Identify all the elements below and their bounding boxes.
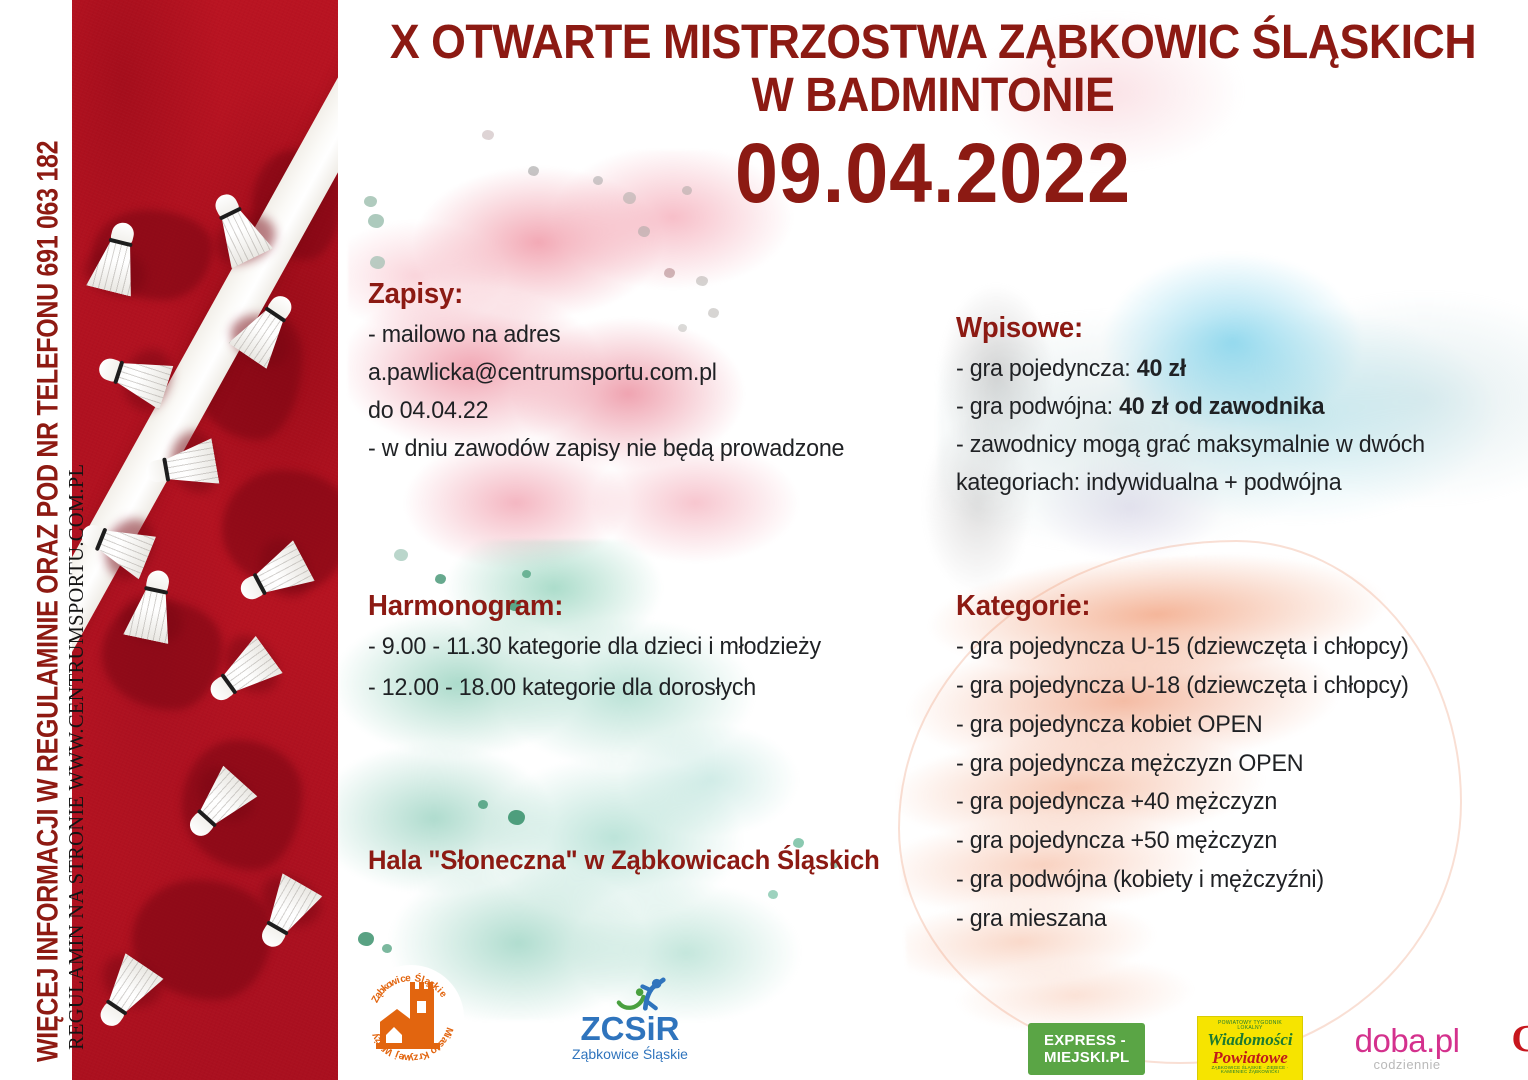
shuttlecock-photo-panel xyxy=(72,0,338,1080)
wiadomosci-powiatowe-logo[interactable]: POWIATOWY TYGODNIK LOKALNY Wiadomości Po… xyxy=(1197,1016,1302,1080)
paint-speck xyxy=(394,549,408,561)
doba-pl-logo[interactable]: doba.pl codziennie xyxy=(1355,1025,1460,1071)
registration-line: - mailowo na adres xyxy=(368,319,938,351)
category-item: - gra pojedyncza U-18 (dziewczęta i chło… xyxy=(956,670,1526,702)
registration-note: - w dniu zawodów zapisy nie będą prowadz… xyxy=(368,433,938,465)
side-info-main-text: WIĘCEJ INFORMACJI W REGULAMINIE ORAZ POD… xyxy=(34,141,64,1062)
wiadomosci-tagline-bottom: ZĄBKOWICE ŚLĄSKIE · ZIĘBICE · KAMIENIEC … xyxy=(1207,1066,1292,1075)
wiadomosci-word-2: Powiatowe xyxy=(1207,1049,1292,1066)
wiadomosci-word-1: Wiadomości xyxy=(1207,1031,1292,1048)
categories-heading: Kategorie: xyxy=(956,590,1526,623)
paint-speck xyxy=(382,944,392,953)
badminton-tournament-poster: WIĘCEJ INFORMACJI W REGULAMINIE ORAZ POD… xyxy=(0,0,1528,1080)
express-miejski-label: EXPRESS - MIEJSKI.PL xyxy=(1028,1023,1145,1075)
event-date: 09.04.2022 xyxy=(386,131,1481,215)
schedule-heading: Harmonogram: xyxy=(368,590,938,623)
town-logo-leaning-tower-icon xyxy=(410,989,434,1047)
side-info-website-text: REGULAMIN NA STRONIE WWW.CENTRUMSPORTU.C… xyxy=(66,464,88,1050)
organizer-logos: Ząbkowice Śląskie Miasto Krzywej Wieży Z… xyxy=(358,965,710,1071)
gazeta-zabkowicka-logo[interactable]: G AZETA ZĄBKOWICKA xyxy=(1511,1024,1528,1073)
schedule-line: - 12.00 - 18.00 kategorie dla dorosłych xyxy=(368,672,938,704)
registration-email: a.pawlicka@centrumsportu.com.pl xyxy=(368,357,938,389)
category-item: - gra pojedyncza mężczyzn OPEN xyxy=(956,748,1526,780)
fees-section: Wpisowe: - gra pojedyncza: 40 zł - gra p… xyxy=(956,312,1528,504)
title-line-1: X OTWARTE MISTRZOSTWA ZĄBKOWIC ŚLĄSKICH xyxy=(380,18,1487,67)
zcsir-logo-subtitle: Ząbkowice Śląskie xyxy=(550,1046,710,1062)
category-item: - gra pojedyncza +40 mężczyzn xyxy=(956,786,1526,818)
zcsir-logo-name: ZCSiR xyxy=(550,1012,710,1045)
media-partner-logos: EXPRESS - MIEJSKI.PL POWIATOWY TYGODNIK … xyxy=(1028,1016,1528,1080)
paint-speck xyxy=(358,932,374,946)
fees-line-singles: - gra pojedyncza: 40 zł xyxy=(956,353,1526,385)
venue-text: Hala "Słoneczna" w Ząbkowicach Śląskich xyxy=(368,845,880,876)
category-item: - gra pojedyncza kobiet OPEN xyxy=(956,709,1526,741)
fees-line-note-2: kategoriach: indywidualna + podwójna xyxy=(956,467,1526,499)
paint-speck xyxy=(508,810,525,825)
express-miejski-logo[interactable]: EXPRESS - MIEJSKI.PL xyxy=(1028,1023,1145,1075)
schedule-section: Harmonogram: - 9.00 - 11.30 kategorie dl… xyxy=(368,590,968,713)
town-logo-base xyxy=(376,1043,440,1049)
poster-content: X OTWARTE MISTRZOSTWA ZĄBKOWIC ŚLĄSKICH … xyxy=(338,0,1528,1080)
fees-line-doubles: - gra podwójna: 40 zł od zawodnika xyxy=(956,391,1526,423)
paint-speck xyxy=(768,890,778,899)
category-item: - gra mieszana xyxy=(956,903,1526,935)
categories-section: Kategorie: - gra pojedyncza U-15 (dziewc… xyxy=(956,590,1528,942)
title-line-2: W BADMINTONIE xyxy=(380,71,1487,120)
poster-title: X OTWARTE MISTRZOSTWA ZĄBKOWIC ŚLĄSKICH … xyxy=(338,18,1528,215)
paint-speck xyxy=(664,268,675,278)
category-item: - gra pojedyncza U-15 (dziewczęta i chło… xyxy=(956,631,1526,663)
registration-deadline: do 04.04.22 xyxy=(368,395,938,427)
category-item: - gra podwójna (kobiety i mężczyźni) xyxy=(956,864,1526,896)
schedule-line: - 9.00 - 11.30 kategorie dla dzieci i mł… xyxy=(368,631,938,663)
paint-speck xyxy=(435,574,446,584)
doba-pl-name: doba.pl xyxy=(1355,1025,1460,1056)
side-info-column: WIĘCEJ INFORMACJI W REGULAMINIE ORAZ POD… xyxy=(0,0,72,1080)
zabkowice-town-logo: Ząbkowice Śląskie Miasto Krzywej Wieży xyxy=(358,965,464,1071)
gazeta-initial-letter: G xyxy=(1511,1024,1528,1054)
paint-speck xyxy=(522,570,531,578)
zcsir-logo: ZCSiR Ząbkowice Śląskie xyxy=(550,972,710,1064)
registration-section: Zapisy: - mailowo na adres a.pawlicka@ce… xyxy=(368,278,968,470)
paint-speck xyxy=(370,256,385,269)
paint-speck xyxy=(638,226,650,237)
registration-heading: Zapisy: xyxy=(368,278,938,311)
paint-speck xyxy=(368,214,384,228)
fees-heading: Wpisowe: xyxy=(956,312,1526,345)
fees-line-note-1: - zawodnicy mogą grać maksymalnie w dwóc… xyxy=(956,429,1526,461)
category-item: - gra pojedyncza +50 mężczyzn xyxy=(956,825,1526,857)
paint-speck xyxy=(478,800,488,809)
